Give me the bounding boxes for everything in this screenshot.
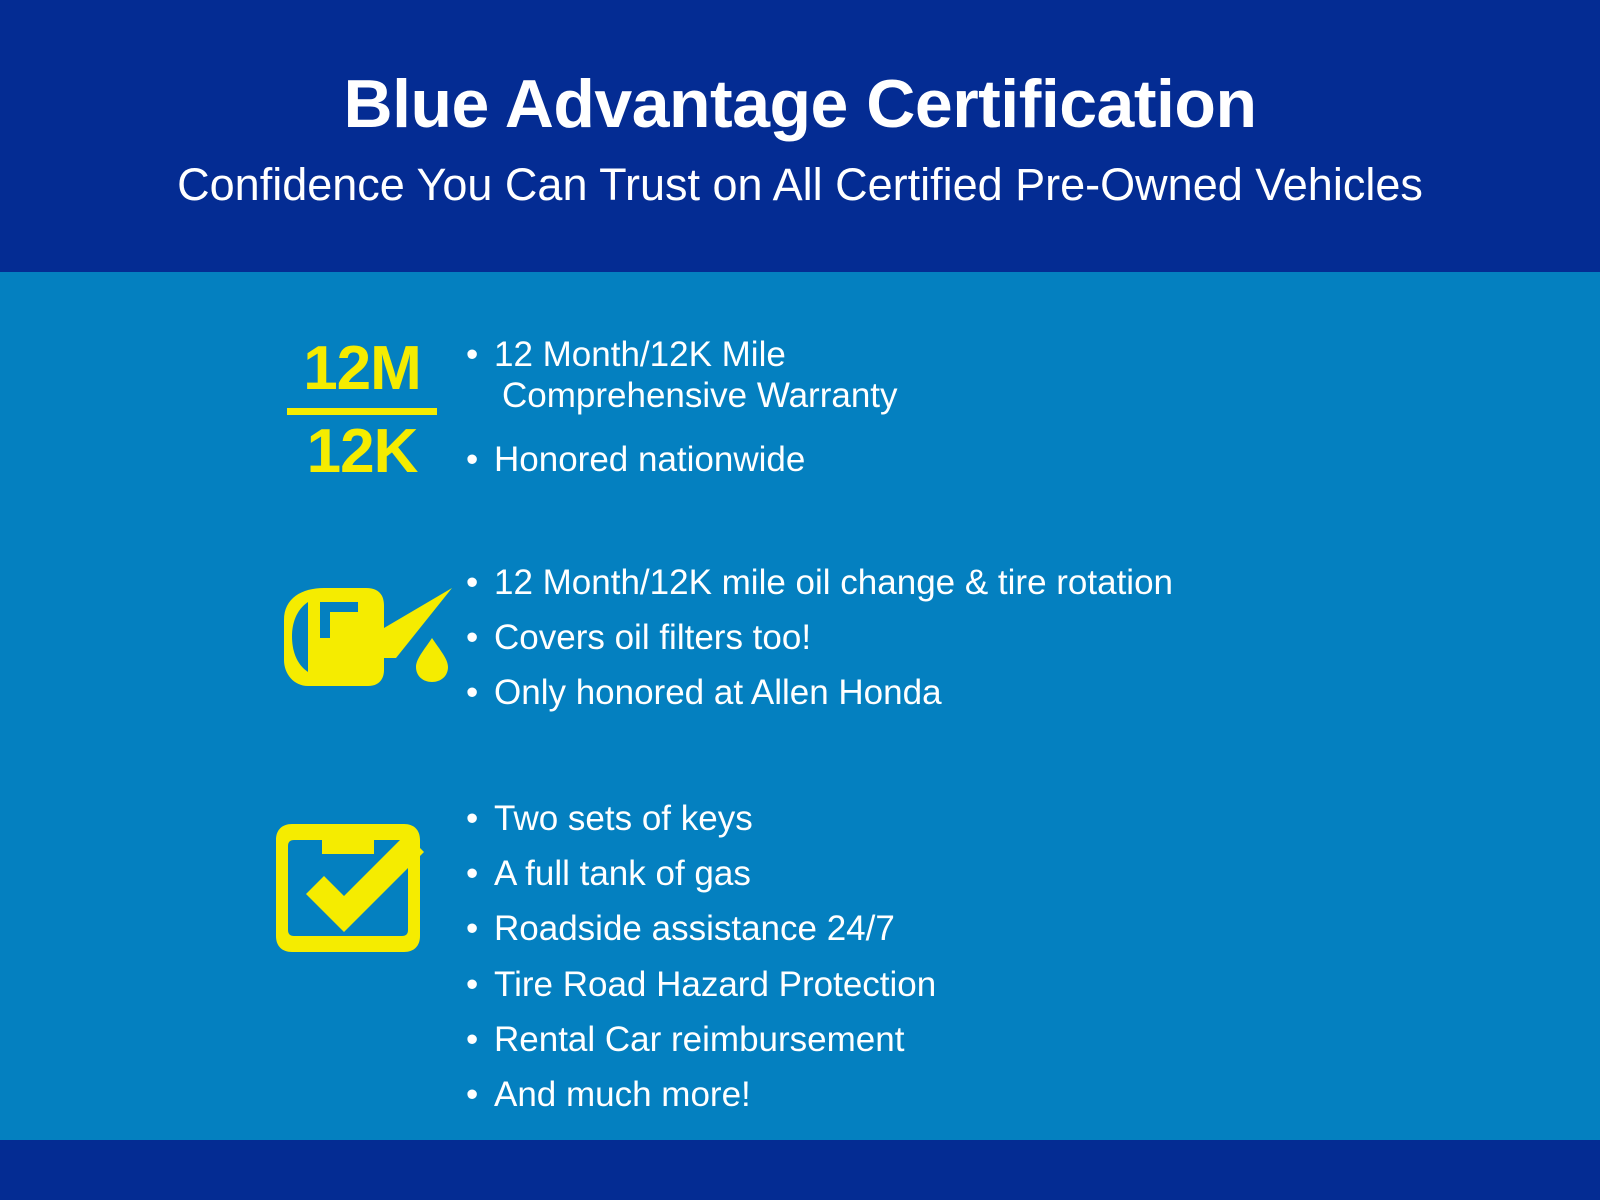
list-item: • A full tank of gas <box>466 853 936 894</box>
list-item-label: A full tank of gas <box>494 853 751 894</box>
list-item: • Covers oil filters too! <box>466 617 1173 658</box>
blue-advantage-poster: Blue Advantage Certification Confidence … <box>0 0 1600 1200</box>
list-item-line-1: 12 Month/12K Mile <box>494 335 786 374</box>
bullet-dot-icon: • <box>466 1019 494 1060</box>
list-item-label: Tire Road Hazard Protection <box>494 964 936 1005</box>
list-item: • And much more! <box>466 1074 936 1115</box>
list-item: • 12 Month/12K mile oil change & tire ro… <box>466 562 1173 603</box>
fraction-numerator: 12M <box>303 338 421 405</box>
list-item-label: Roadside assistance 24/7 <box>494 908 895 949</box>
list-item-label: Honored nationwide <box>494 439 805 480</box>
list-item: • Roadside assistance 24/7 <box>466 908 936 949</box>
benefit-icon-cell: 12M 12K <box>262 334 462 483</box>
list-item: • Two sets of keys <box>466 798 936 839</box>
list-item-label: Covers oil filters too! <box>494 617 811 658</box>
bullet-dot-icon: • <box>466 1074 494 1115</box>
bullet-dot-icon: • <box>466 439 494 480</box>
list-item: • Only honored at Allen Honda <box>466 672 1173 713</box>
benefit-icon-cell <box>262 562 462 696</box>
benefit-bullet-list: • 12 Month/12K mile oil change & tire ro… <box>462 562 1173 728</box>
page-subtitle: Confidence You Can Trust on All Certifie… <box>177 160 1423 210</box>
list-item-label: And much more! <box>494 1074 751 1115</box>
list-item: • Rental Car reimbursement <box>466 1019 936 1060</box>
benefit-group-extras: • Two sets of keys • A full tank of gas … <box>262 798 1600 1130</box>
bullet-dot-icon: • <box>466 798 494 839</box>
twelve-month-twelve-k-fraction-icon: 12M 12K <box>287 338 437 483</box>
list-item-label: 12 Month/12K Mile Comprehensive Warranty <box>494 334 898 417</box>
benefit-bullet-list: • Two sets of keys • A full tank of gas … <box>462 798 936 1130</box>
oil-can-icon <box>262 566 462 696</box>
poster-footer-bar <box>0 1140 1600 1200</box>
page-title: Blue Advantage Certification <box>344 69 1257 140</box>
benefit-group-warranty: 12M 12K • 12 Month/12K Mile Comprehensiv… <box>262 334 1600 488</box>
bullet-dot-icon: • <box>466 853 494 894</box>
list-item: • Honored nationwide <box>466 439 898 480</box>
fraction-bar <box>287 408 437 415</box>
bullet-dot-icon: • <box>466 617 494 658</box>
benefit-group-oil-change: • 12 Month/12K mile oil change & tire ro… <box>262 562 1600 728</box>
bullet-dot-icon: • <box>466 562 494 603</box>
poster-header: Blue Advantage Certification Confidence … <box>0 0 1600 272</box>
bullet-dot-icon: • <box>466 672 494 713</box>
clipboard-check-icon <box>262 802 462 962</box>
list-item-label: Only honored at Allen Honda <box>494 672 942 713</box>
fraction-denominator: 12K <box>307 421 418 483</box>
list-item: • Tire Road Hazard Protection <box>466 964 936 1005</box>
list-item-line-2: Comprehensive Warranty <box>494 375 898 416</box>
benefit-icon-cell <box>262 798 462 962</box>
list-item-label: Two sets of keys <box>494 798 753 839</box>
bullet-dot-icon: • <box>466 964 494 1005</box>
benefits-section: 12M 12K • 12 Month/12K Mile Comprehensiv… <box>0 272 1600 1140</box>
list-item-label: Rental Car reimbursement <box>494 1019 904 1060</box>
benefit-bullet-list: • 12 Month/12K Mile Comprehensive Warran… <box>462 334 898 488</box>
bullet-dot-icon: • <box>466 908 494 949</box>
list-item: • 12 Month/12K Mile Comprehensive Warran… <box>466 334 898 417</box>
list-item-label: 12 Month/12K mile oil change & tire rota… <box>494 562 1173 603</box>
bullet-dot-icon: • <box>466 334 494 375</box>
